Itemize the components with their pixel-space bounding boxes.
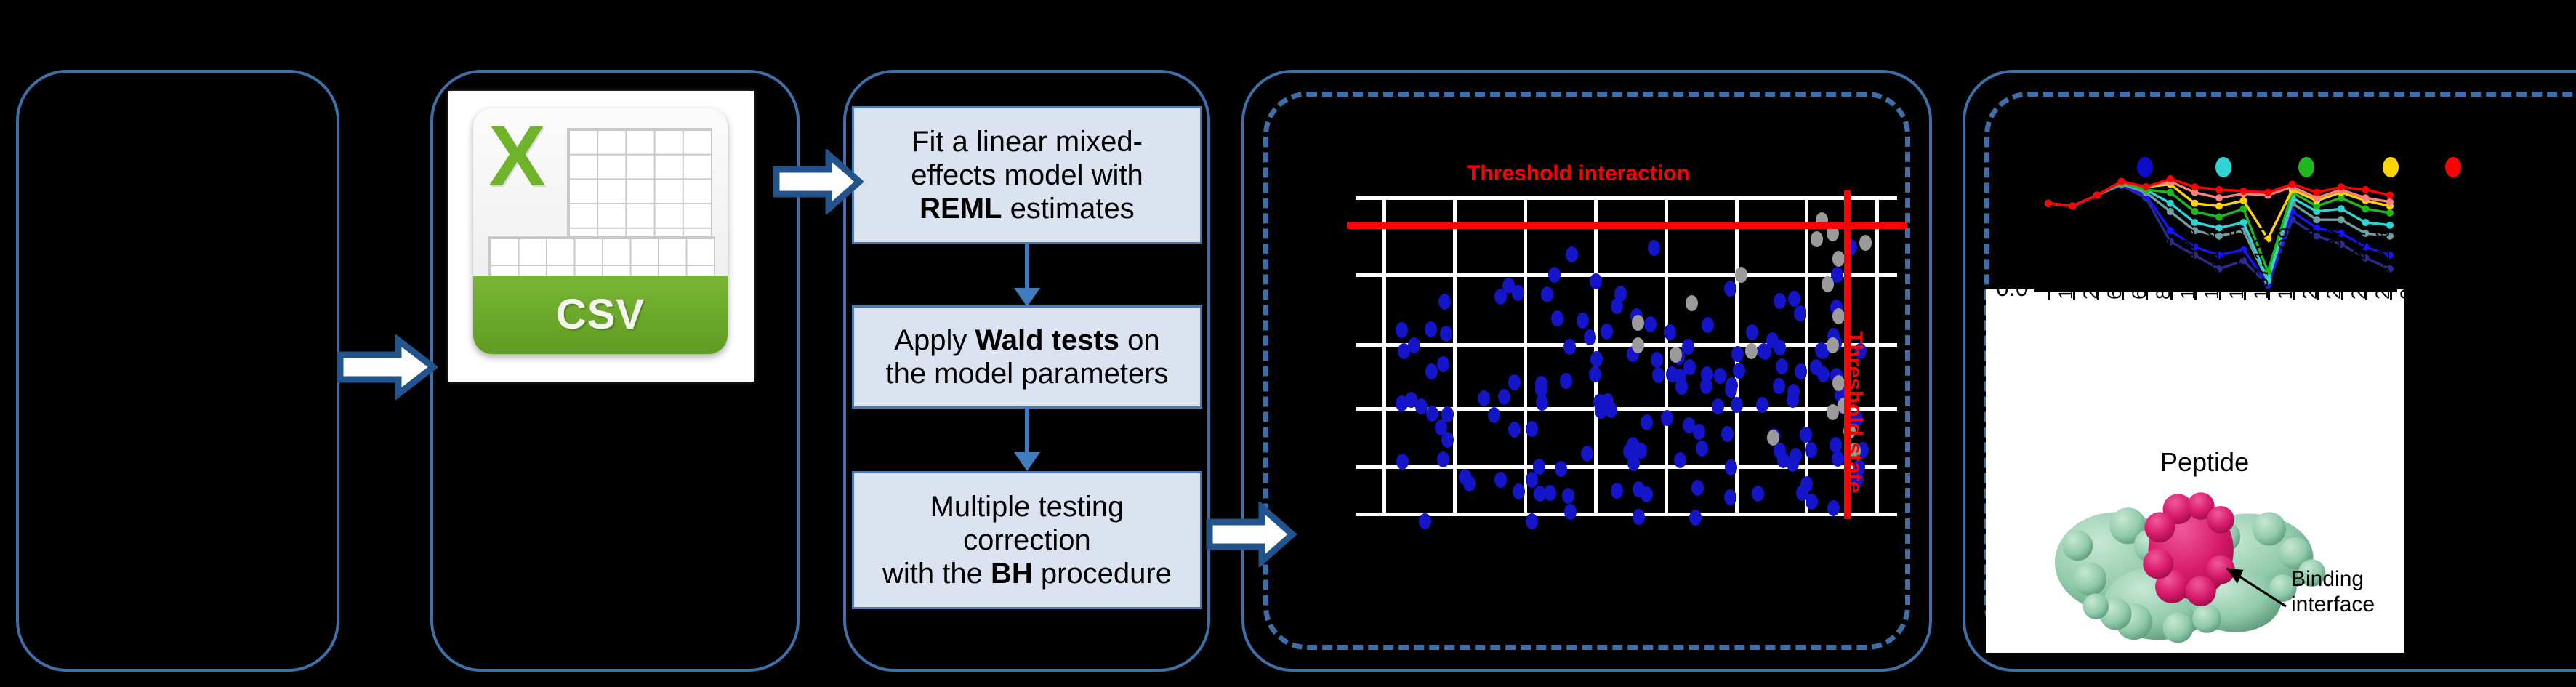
scatter-point [1437, 356, 1449, 372]
scatter-point [1758, 343, 1770, 359]
excel-x-icon: X [488, 113, 546, 199]
wald-lead: Apply [894, 324, 975, 356]
bh-line1: Multiple testing [930, 491, 1124, 523]
scatter-point [1415, 398, 1428, 414]
scatter-point [1396, 454, 1409, 470]
peptide-axis-tick [2219, 289, 2221, 300]
wald-bold: Wald tests [975, 324, 1120, 356]
reml-line2: effects model with [911, 159, 1143, 191]
scatter-plot [1356, 196, 1897, 516]
scatter-point [1560, 373, 1572, 389]
scatter-point [1584, 329, 1596, 345]
scatter-point-nonsignificant [1827, 337, 1839, 353]
scatter-point [1566, 246, 1578, 262]
scatter-point [1633, 509, 1645, 525]
scatter-point [1701, 366, 1713, 382]
flow-diagram-root: X CSV Fit a linear mixed- effects model … [0, 0, 2576, 687]
scatter-point [1441, 432, 1454, 448]
reml-line1: Fit a linear mixed- [911, 126, 1143, 158]
scatter-point [1614, 286, 1627, 302]
binding-interface-label: Binding interface [2291, 567, 2375, 617]
scatter-point [1595, 403, 1607, 419]
wald-tail: on [1119, 324, 1160, 356]
bh-line3-tail: procedure [1033, 558, 1172, 590]
scatter-point [1425, 321, 1437, 337]
binding-label-line1: Binding [2291, 567, 2364, 591]
scatter-point [1712, 398, 1724, 414]
process-box-reml: Fit a linear mixed- effects model with R… [852, 106, 1202, 244]
scatter-point [1463, 475, 1476, 491]
connector-1 [1025, 244, 1029, 292]
bh-line2: correction [963, 524, 1091, 556]
scatter-point [1536, 395, 1548, 411]
scatter-point [1398, 343, 1410, 359]
peptide-axis-tick [2170, 289, 2173, 300]
threshold-interaction-line [1347, 222, 1907, 229]
scatter-point-nonsignificant [1632, 315, 1644, 331]
scatter-point-nonsignificant [1859, 235, 1872, 251]
scatter-point [1425, 363, 1438, 379]
scatter-point-nonsignificant [1670, 347, 1682, 363]
csv-band: CSV [473, 276, 728, 354]
scatter-point [1494, 289, 1507, 305]
scatter-point [1815, 342, 1827, 358]
block-arrow-3 [1205, 502, 1297, 567]
connector-2-arrowhead [1014, 452, 1040, 471]
connector-2 [1025, 409, 1029, 457]
peptide-axis-tick [2194, 289, 2197, 300]
scatter-point [1675, 379, 1688, 395]
peptide-axis-tick [2097, 289, 2099, 300]
scatter-point [1437, 451, 1449, 467]
scatter-point [1800, 427, 1812, 443]
csv-icon: X CSV [473, 108, 728, 354]
scatter-point-nonsignificant [1735, 267, 1747, 283]
peptide-axis-tick [2341, 289, 2343, 300]
scatter-point [1635, 443, 1647, 459]
scatter-point [1795, 363, 1807, 379]
scatter-point [1623, 443, 1635, 459]
scatter-point [1693, 424, 1705, 440]
scatter-point [1725, 459, 1737, 475]
scatter-point [1721, 426, 1734, 442]
scatter-point [1830, 437, 1842, 453]
peptide-axis-tick [2268, 289, 2270, 300]
process-box-bh: Multiple testing correction with the BH … [852, 471, 1202, 609]
csv-file-card: X CSV [448, 91, 754, 382]
scatter-point [1788, 291, 1800, 307]
scatter-point [1794, 305, 1806, 321]
wald-line2: the model parameters [885, 358, 1168, 390]
threshold-interaction-label: Threshold interaction [1467, 161, 1690, 186]
scatter-point-nonsignificant [1822, 276, 1834, 292]
scatter-point [1555, 461, 1567, 477]
csv-label: CSV [556, 290, 645, 339]
scatter-point-nonsignificant [1811, 231, 1823, 247]
scatter-point [1724, 489, 1736, 505]
bh-bold: BH [991, 558, 1033, 590]
scatter-point [1689, 510, 1702, 526]
scatter-point [1508, 422, 1521, 438]
scatter-point [1533, 459, 1545, 475]
scatter-point [1648, 240, 1660, 256]
peptide-axis-tick [2146, 289, 2148, 300]
scatter-point [1581, 446, 1593, 462]
scatter-point [1541, 286, 1553, 302]
scatter-point [1702, 317, 1714, 333]
threshold-state-label: Threshold state [1842, 331, 1867, 493]
scatter-point [1564, 504, 1577, 520]
connector-1-arrowhead [1014, 288, 1040, 307]
scatter-point-nonsignificant [1832, 308, 1845, 324]
reml-bold: REML [919, 193, 1002, 225]
scatter-point [1827, 500, 1840, 516]
scatter-point [1664, 324, 1676, 340]
scatter-point [1731, 346, 1744, 362]
scatter-point [1526, 472, 1538, 488]
scatter-point-nonsignificant [1832, 251, 1845, 267]
peptide-axis-tick [2293, 289, 2295, 300]
scatter-point [1544, 485, 1556, 501]
scatter-point [1535, 376, 1547, 392]
scatter-point [1534, 486, 1546, 502]
scatter-point [1548, 267, 1561, 283]
peptide-axis-tick [2317, 289, 2319, 300]
scatter-point [1508, 374, 1521, 390]
scatter-point [1419, 513, 1431, 529]
scatter-point [1787, 392, 1799, 408]
block-arrow-1 [336, 334, 438, 400]
scatter-point [1526, 513, 1538, 529]
scatter-point [1644, 316, 1657, 332]
scatter-point [1498, 389, 1510, 405]
scatter-point [1563, 339, 1576, 355]
scatter-point [1774, 340, 1786, 355]
empty-panel [16, 70, 339, 672]
scatter-point [1714, 368, 1726, 384]
bh-line3-lead: with the [882, 558, 991, 590]
scatter-point [1590, 351, 1603, 367]
scatter-point [1756, 397, 1768, 413]
reml-line3-tail: estimates [1002, 193, 1135, 225]
peptide-axis-tick [2048, 289, 2050, 300]
scatter-point [1478, 390, 1490, 406]
binding-label-line2: interface [2291, 592, 2375, 616]
scatter-point [1589, 366, 1601, 382]
peptide-figure: 0.0 1-1528-4463-7367-7581-101122-129135-… [1992, 131, 2576, 654]
scatter-point [1817, 366, 1830, 382]
scatter-point-nonsignificant [1632, 337, 1644, 353]
process-box-wald: Apply Wald tests on the model parameters [852, 305, 1202, 409]
peptide-axis-tick [2073, 289, 2075, 300]
peptide-axis-tick [2244, 289, 2246, 300]
peptide-axis-tick [2390, 289, 2392, 300]
peptide-tick-label: 277-284 [2396, 228, 2419, 300]
peptide-axis-tick [2365, 289, 2367, 300]
peptide-axis-tick [2122, 289, 2124, 300]
block-arrow-2 [772, 149, 864, 214]
